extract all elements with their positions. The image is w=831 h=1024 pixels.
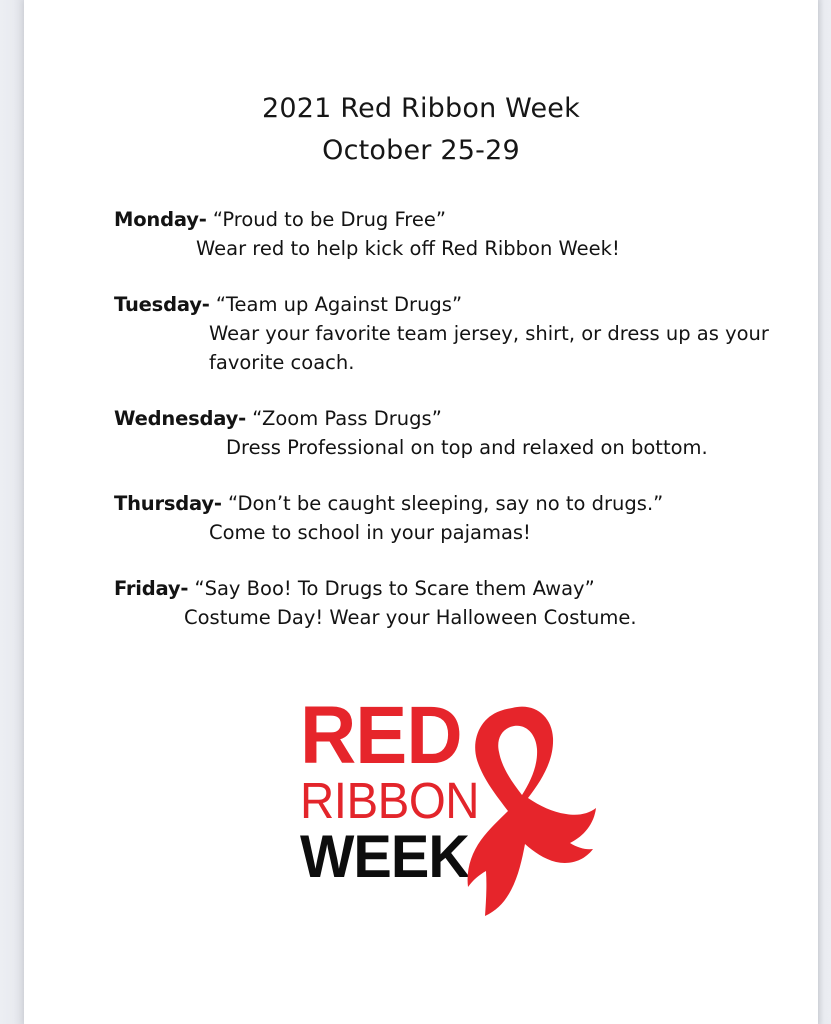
day-label-tuesday: Tuesday- xyxy=(114,293,210,316)
day-detail-tuesday-2: favorite coach. xyxy=(114,348,778,377)
logo-text-ribbon: RIBBON xyxy=(300,774,460,827)
schedule-list: Monday- “Proud to be Drug Free” Wear red… xyxy=(114,205,778,632)
page-title: 2021 Red Ribbon Week October 25-29 xyxy=(24,88,818,172)
day-detail-monday-1: Wear red to help kick off Red Ribbon Wee… xyxy=(114,234,778,263)
schedule-item-tuesday: Tuesday- “Team up Against Drugs” Wear yo… xyxy=(114,290,778,377)
screenshot-root: 2021 Red Ribbon Week October 25-29 Monda… xyxy=(0,0,831,1024)
day-theme-tuesday: “Team up Against Drugs” xyxy=(216,293,462,316)
page-gutter-left xyxy=(0,0,24,1024)
schedule-item-wednesday: Wednesday- “Zoom Pass Drugs” Dress Profe… xyxy=(114,404,778,462)
schedule-item-thursday: Thursday- “Don’t be caught sleeping, say… xyxy=(114,489,778,547)
day-theme-monday: “Proud to be Drug Free” xyxy=(213,208,446,231)
day-headline: Wednesday- “Zoom Pass Drugs” xyxy=(114,404,778,433)
day-label-monday: Monday- xyxy=(114,208,207,231)
logo-text-red: RED xyxy=(300,700,463,772)
day-detail-friday-1: Costume Day! Wear your Halloween Costume… xyxy=(114,603,778,632)
day-label-wednesday: Wednesday- xyxy=(114,407,246,430)
logo-text-week: WEEK xyxy=(300,828,465,886)
page-gutter-right xyxy=(818,0,831,1024)
day-label-friday: Friday- xyxy=(114,577,188,600)
day-headline: Thursday- “Don’t be caught sleeping, say… xyxy=(114,489,778,518)
day-detail-thursday-1: Come to school in your pajamas! xyxy=(114,518,778,547)
day-headline: Tuesday- “Team up Against Drugs” xyxy=(114,290,778,319)
day-theme-wednesday: “Zoom Pass Drugs” xyxy=(252,407,442,430)
title-line-1: 2021 Red Ribbon Week xyxy=(24,88,818,130)
day-detail-tuesday-1: Wear your favorite team jersey, shirt, o… xyxy=(114,319,778,348)
day-headline: Monday- “Proud to be Drug Free” xyxy=(114,205,778,234)
day-theme-thursday: “Don’t be caught sleeping, say no to dru… xyxy=(228,492,663,515)
schedule-item-friday: Friday- “Say Boo! To Drugs to Scare them… xyxy=(114,574,778,632)
day-headline: Friday- “Say Boo! To Drugs to Scare them… xyxy=(114,574,778,603)
title-line-2: October 25-29 xyxy=(24,130,818,172)
day-label-thursday: Thursday- xyxy=(114,492,222,515)
logo-wordmark: RED RIBBON WEEK xyxy=(300,700,472,886)
flyer-page: 2021 Red Ribbon Week October 25-29 Monda… xyxy=(24,0,818,1024)
day-theme-friday: “Say Boo! To Drugs to Scare them Away” xyxy=(195,577,595,600)
schedule-item-monday: Monday- “Proud to be Drug Free” Wear red… xyxy=(114,205,778,263)
red-ribbon-week-logo: RED RIBBON WEEK xyxy=(300,700,600,922)
awareness-ribbon-icon xyxy=(452,702,600,922)
day-detail-wednesday-1: Dress Professional on top and relaxed on… xyxy=(114,433,778,462)
